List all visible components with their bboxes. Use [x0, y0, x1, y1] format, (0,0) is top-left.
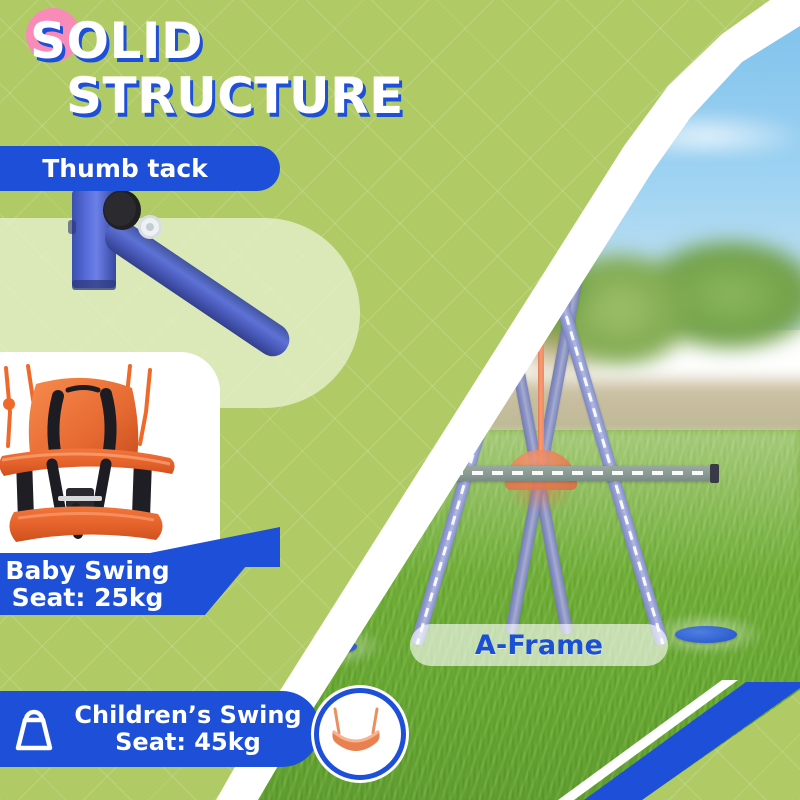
belt-swing-badge: [314, 688, 406, 780]
callout-thumb-tack: Thumb tack: [0, 146, 280, 191]
headline-line-1: SOLID: [30, 12, 203, 70]
headline-line-2: STRUCTURE: [66, 72, 770, 121]
children-swing-capacity-bar: Children’s Swing Seat: 45kg: [0, 691, 320, 767]
baby-swing-capacity-label: Baby Swing Seat: 25kg: [0, 553, 205, 615]
baby-swing-seat-image: [0, 360, 206, 558]
children-swing-capacity-text: Children’s Swing Seat: 45kg: [70, 702, 320, 757]
callout-a-frame: A-Frame: [410, 624, 668, 666]
crossbar-end-cap: [710, 464, 719, 483]
baby-label-line-2: Seat: 25kg: [12, 584, 164, 611]
baby-label-line-1: Baby Swing: [5, 557, 169, 584]
frame-foot-right: [675, 626, 737, 643]
bottom-label-line-2: Seat: 45kg: [70, 729, 306, 756]
product-image-canvas: A-Frame: [0, 0, 800, 800]
baby-swing-product-card: [0, 352, 220, 564]
belt-swing-seat-icon: [319, 693, 391, 765]
weight-icon: [12, 706, 56, 752]
bottom-label-line-1: Children’s Swing: [70, 702, 306, 729]
page-title: SOLID STRUCTURE: [30, 17, 770, 121]
